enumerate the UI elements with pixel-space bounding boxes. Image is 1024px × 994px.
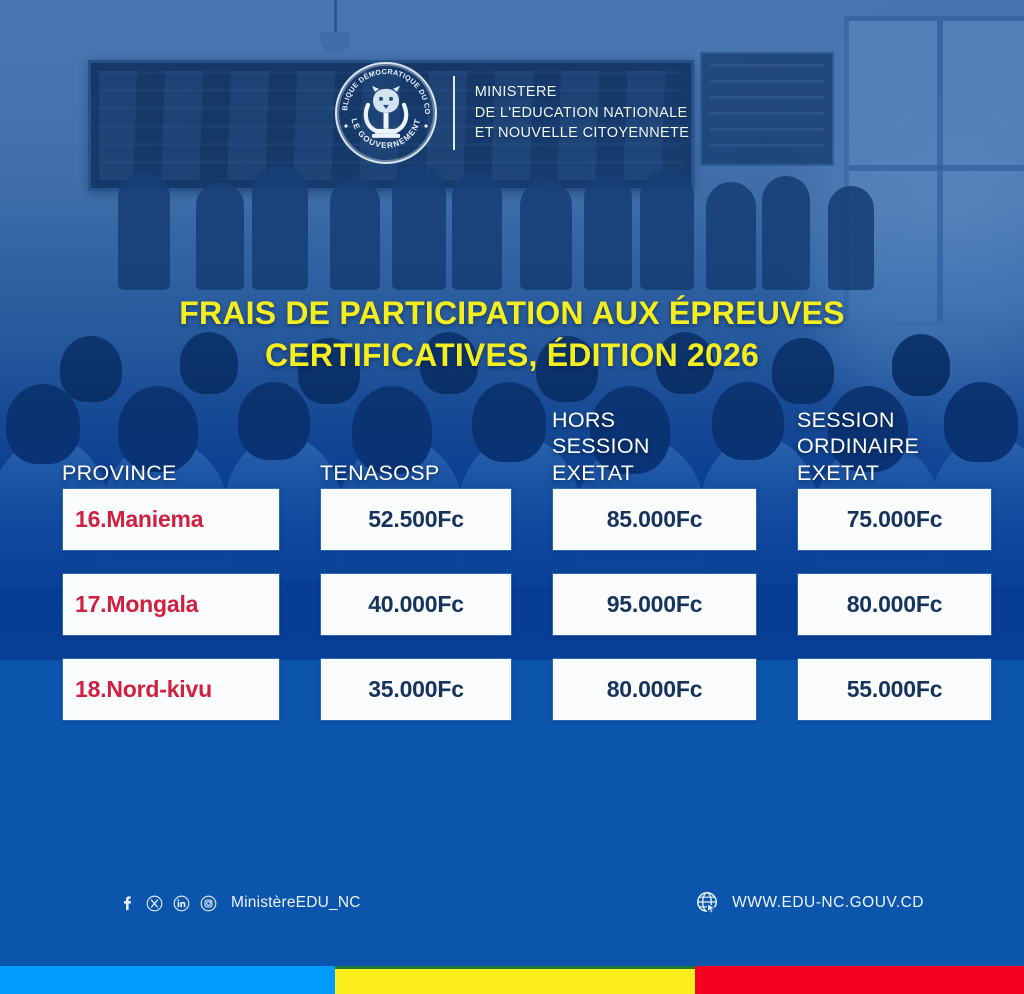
- fee-value: 95.000Fc: [607, 591, 703, 618]
- fee-value: 85.000Fc: [607, 506, 703, 533]
- table-row: 18.Nord-kivu 35.000Fc 80.000Fc 55.000Fc: [62, 658, 984, 721]
- instagram-icon[interactable]: [199, 894, 217, 912]
- column-header-tenasosp: TENASOSP: [320, 460, 512, 488]
- leopard-head-emblem: [359, 83, 413, 141]
- flag-segment-yellow: [335, 966, 695, 994]
- header-divider: [453, 76, 455, 150]
- title-line-2: CERTIFICATIVES, ÉDITION 2026: [70, 334, 954, 376]
- flag-color-bar: [0, 966, 1024, 994]
- ministry-line-3: ET NOUVELLE CITOYENNETE: [475, 123, 690, 144]
- cell-session-ordinaire-exetat: 80.000Fc: [797, 573, 992, 636]
- flag-segment-red: [695, 966, 1024, 994]
- table-header-row: PROVINCE TENASOSP HORS SESSION EXETAT SE…: [62, 396, 984, 488]
- ministry-name: MINISTERE DE L'EDUCATION NATIONALE ET NO…: [475, 82, 690, 144]
- cell-hors-session-exetat: 85.000Fc: [552, 488, 757, 551]
- cell-tenasosp: 52.500Fc: [320, 488, 512, 551]
- fee-value: 80.000Fc: [847, 591, 943, 618]
- column-header-session-ordinaire-exetat: SESSION ORDINAIRE EXETAT: [797, 407, 992, 488]
- header-branding: RÉPUBLIQUE DÉMOCRATIQUE DU CONGO LE GOUV…: [0, 62, 1024, 164]
- social-handle[interactable]: MinistèreEDU_NC: [231, 894, 361, 912]
- column-header-province: PROVINCE: [62, 460, 280, 488]
- province-name: 17.Mongala: [75, 591, 198, 618]
- linkedin-icon[interactable]: [172, 894, 190, 912]
- fees-table: PROVINCE TENASOSP HORS SESSION EXETAT SE…: [62, 396, 984, 743]
- ministry-line-2: DE L'EDUCATION NATIONALE: [475, 103, 690, 124]
- cell-province: 18.Nord-kivu: [62, 658, 280, 721]
- cell-session-ordinaire-exetat: 75.000Fc: [797, 488, 992, 551]
- x-twitter-icon[interactable]: [145, 894, 163, 912]
- poster-footer: MinistèreEDU_NC WWW.EDU-NC.GOUV.CD: [0, 880, 1024, 926]
- table-row: 16.Maniema 52.500Fc 85.000Fc 75.000Fc: [62, 488, 984, 551]
- cell-province: 17.Mongala: [62, 573, 280, 636]
- fee-value: 75.000Fc: [847, 506, 943, 533]
- website-url[interactable]: WWW.EDU-NC.GOUV.CD: [732, 894, 924, 912]
- fee-value: 55.000Fc: [847, 676, 943, 703]
- province-name: 16.Maniema: [75, 506, 203, 533]
- fee-value: 40.000Fc: [368, 591, 464, 618]
- poster-canvas: RÉPUBLIQUE DÉMOCRATIQUE DU CONGO LE GOUV…: [0, 0, 1024, 994]
- website-link[interactable]: WWW.EDU-NC.GOUV.CD: [695, 880, 924, 926]
- cell-tenasosp: 35.000Fc: [320, 658, 512, 721]
- poster-title: FRAIS DE PARTICIPATION AUX ÉPREUVES CERT…: [0, 292, 1024, 376]
- table-row: 17.Mongala 40.000Fc 95.000Fc 80.000Fc: [62, 573, 984, 636]
- cell-hors-session-exetat: 95.000Fc: [552, 573, 757, 636]
- facebook-icon[interactable]: [118, 894, 136, 912]
- globe-cursor-icon: [695, 890, 721, 916]
- fee-value: 52.500Fc: [368, 506, 464, 533]
- cell-province: 16.Maniema: [62, 488, 280, 551]
- flag-segment-blue: [0, 966, 335, 994]
- ministry-line-1: MINISTERE: [475, 82, 690, 103]
- column-header-hors-session-exetat: HORS SESSION EXETAT: [552, 407, 757, 488]
- cell-session-ordinaire-exetat: 55.000Fc: [797, 658, 992, 721]
- cell-tenasosp: 40.000Fc: [320, 573, 512, 636]
- fee-value: 80.000Fc: [607, 676, 703, 703]
- drc-government-seal: RÉPUBLIQUE DÉMOCRATIQUE DU CONGO LE GOUV…: [335, 62, 437, 164]
- title-line-1: FRAIS DE PARTICIPATION AUX ÉPREUVES: [70, 292, 954, 334]
- fee-value: 35.000Fc: [368, 676, 464, 703]
- social-media-links: MinistèreEDU_NC: [118, 880, 361, 926]
- cell-hors-session-exetat: 80.000Fc: [552, 658, 757, 721]
- province-name: 18.Nord-kivu: [75, 676, 212, 703]
